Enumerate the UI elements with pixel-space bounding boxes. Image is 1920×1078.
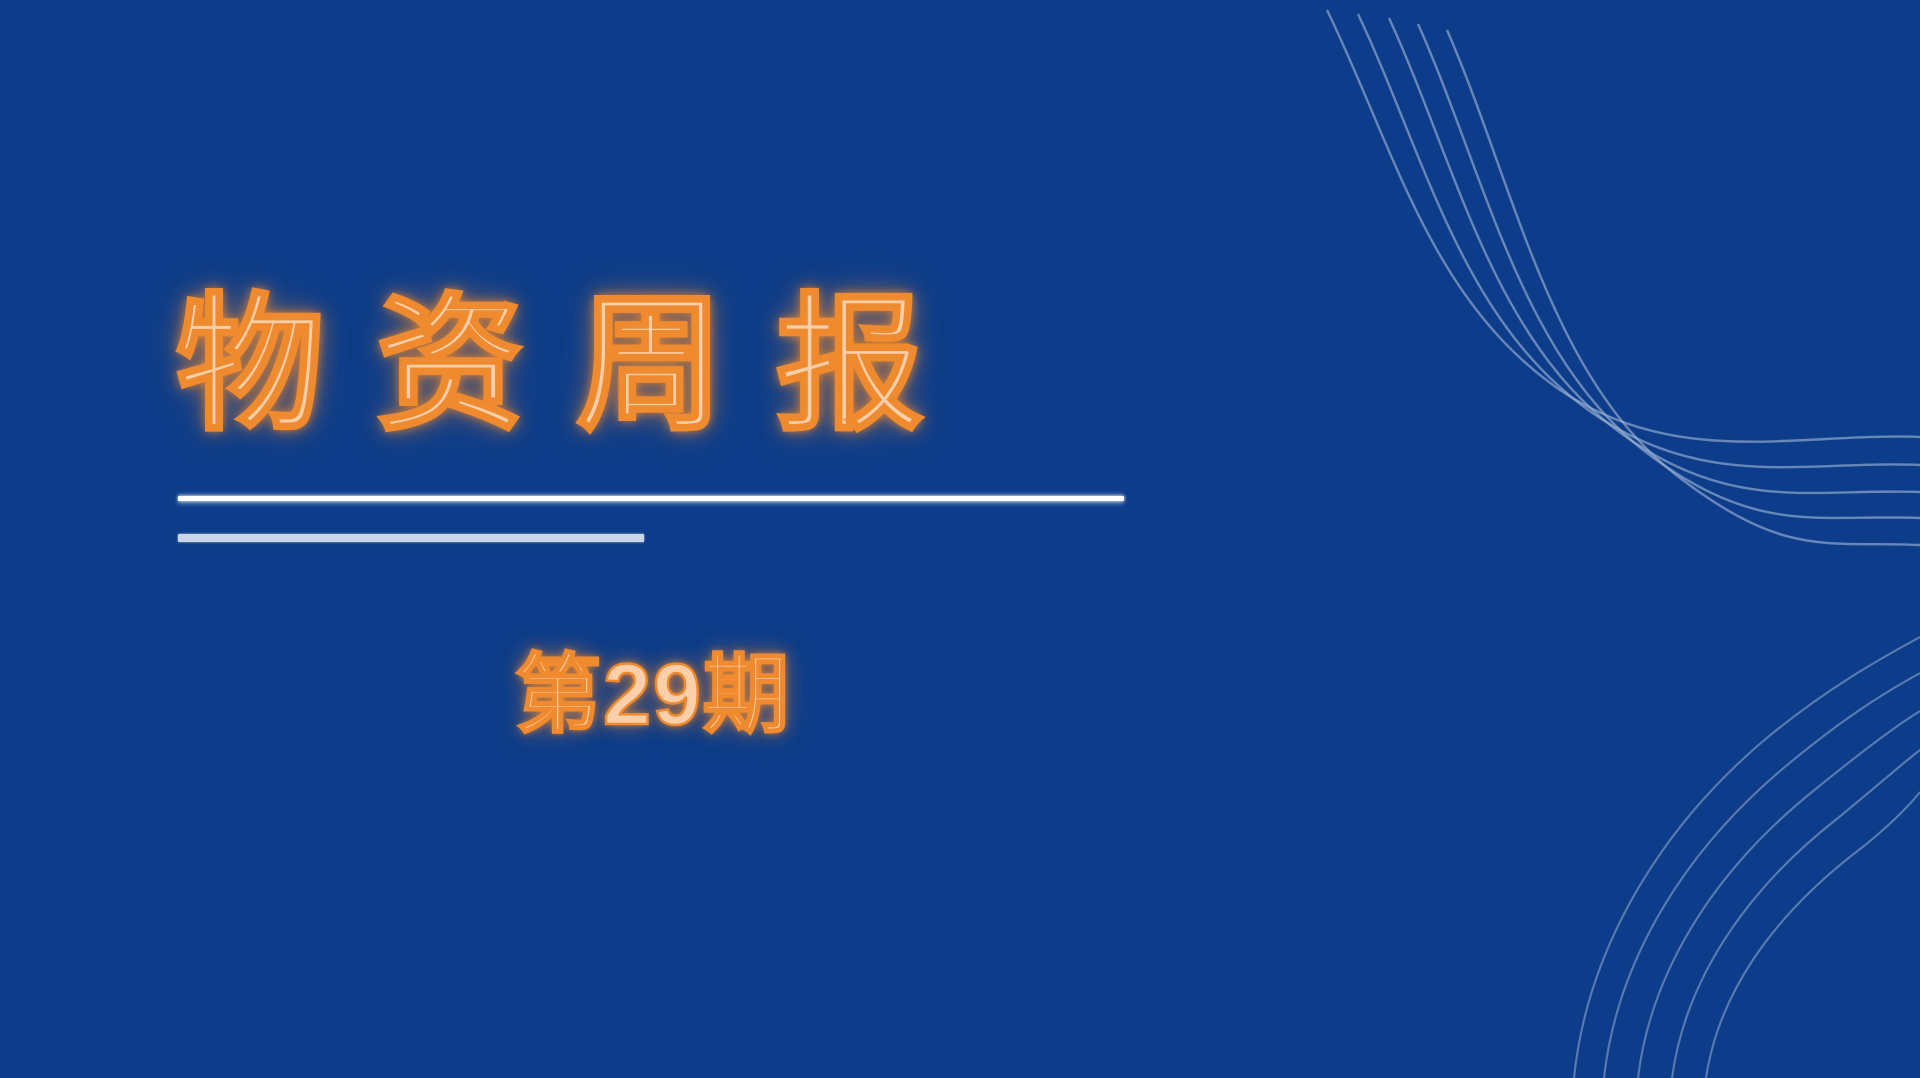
title-underline-secondary	[178, 534, 644, 542]
swoosh-line-tr-5	[1447, 30, 1920, 545]
swoosh-line-br-2	[1604, 673, 1920, 1078]
bottom-right-curve-group	[1574, 637, 1920, 1078]
swoosh-line-br-4	[1672, 750, 1920, 1078]
title-block: 物资周报	[176, 292, 1176, 440]
swoosh-line-tr-1	[1327, 10, 1920, 442]
swoosh-line-tr-3	[1389, 18, 1920, 493]
title-underline-primary	[178, 496, 1124, 501]
top-right-curve-group	[1327, 10, 1920, 545]
swoosh-line-br-3	[1638, 711, 1920, 1078]
slide-canvas: 物资周报 第29期	[0, 0, 1920, 1078]
issue-subtitle: 第29期	[178, 648, 1128, 743]
swoosh-line-tr-2	[1358, 14, 1920, 467]
swoosh-line-br-1	[1574, 637, 1920, 1078]
swoosh-line-br-5	[1706, 792, 1920, 1078]
page-title: 物资周报	[176, 292, 1176, 440]
swoosh-line-tr-4	[1418, 24, 1920, 518]
